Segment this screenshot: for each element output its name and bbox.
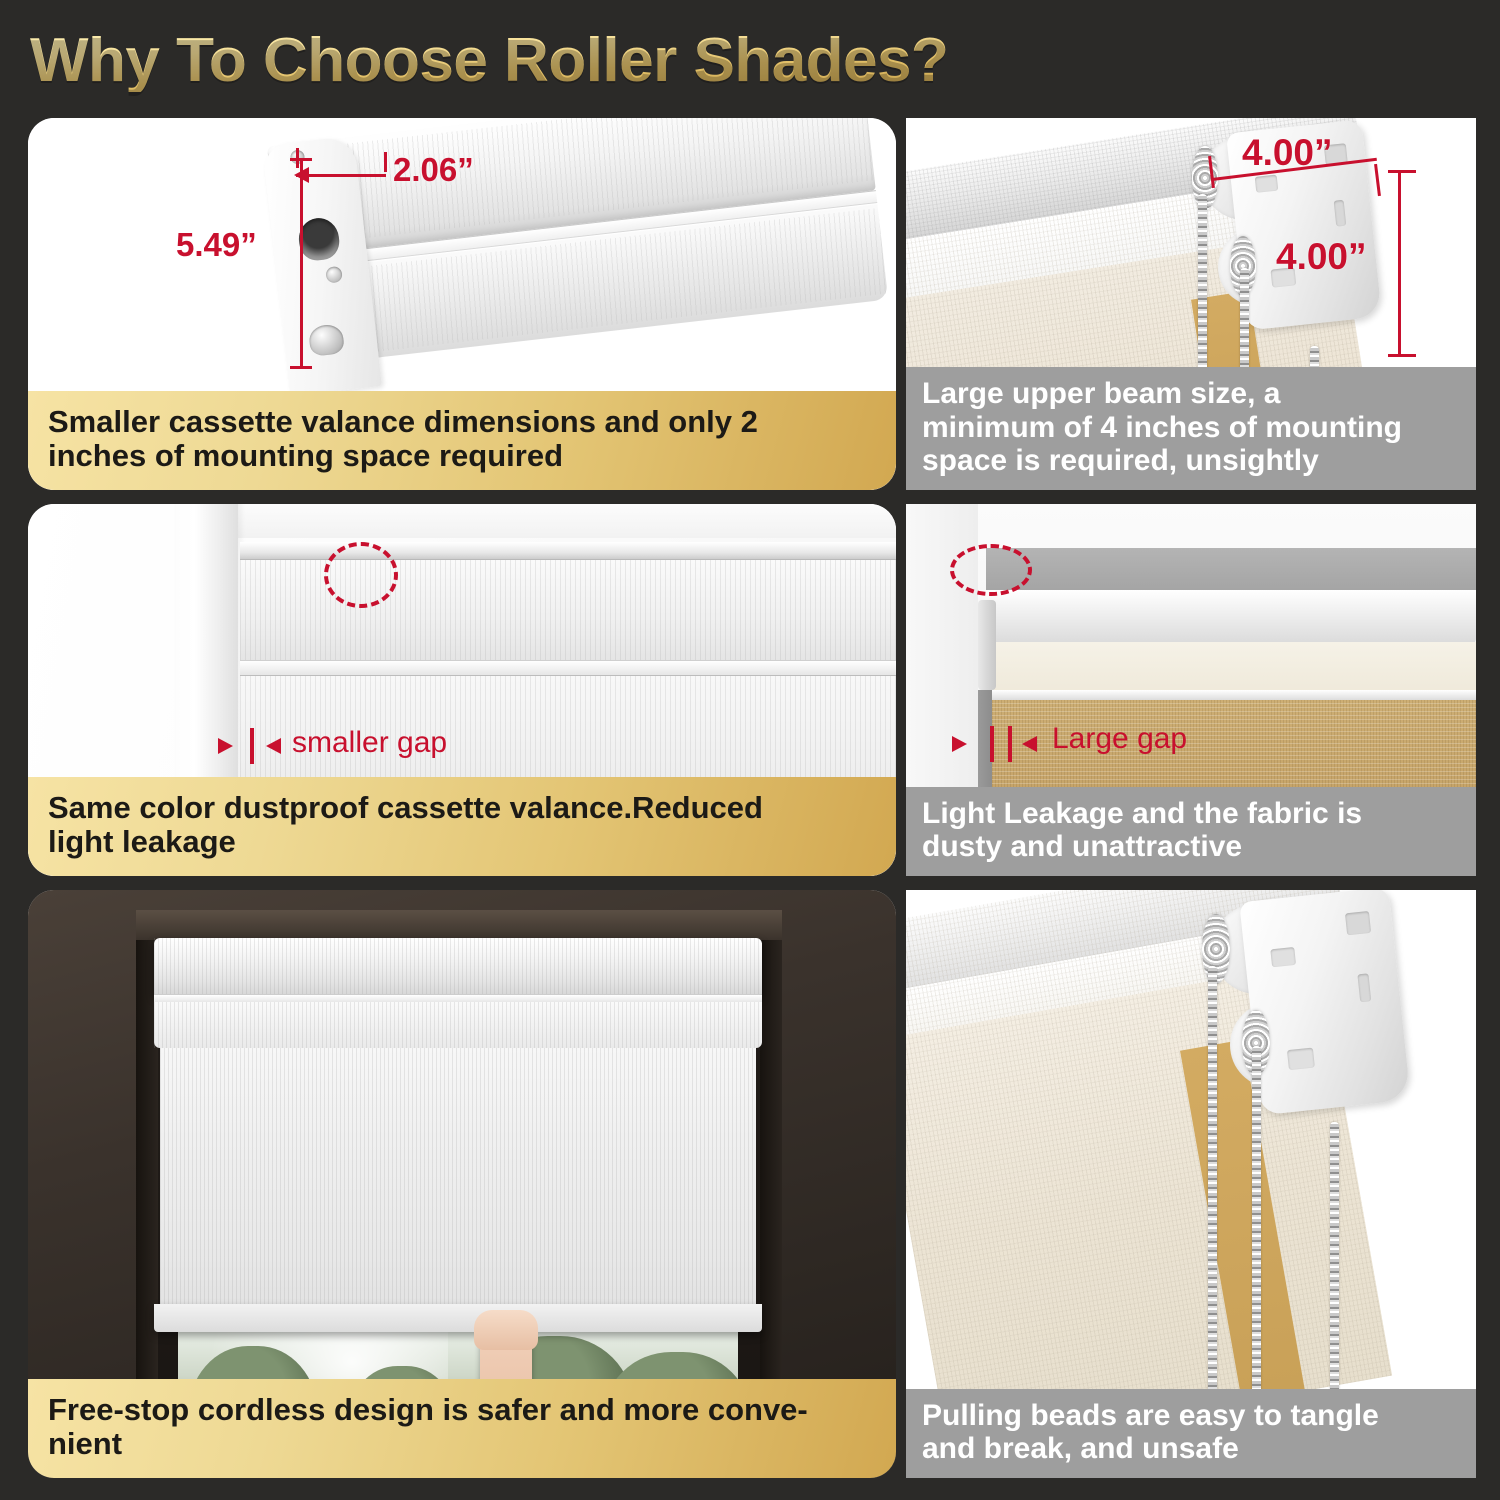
bead-chain-middle [1252,1046,1261,1422]
caption-line: Same color dustproof cassette valance.Re… [48,791,876,826]
light-leakage-photo: Large gap Light Leakage and the fabric i… [906,504,1476,876]
smaller-gap-photo: smaller gap Same color dustproof cassett… [28,504,896,876]
highlight-circle-icon [324,542,398,608]
page-title: Why To Choose Roller Shades? [30,30,948,92]
comparison-grid: 2.06” 5.49” Smaller cassette valance dim… [28,118,1476,1478]
caption-line: light leakage [48,825,876,860]
panel-smaller-gap: smaller gap Same color dustproof cassett… [28,504,896,876]
panel-caption: Light Leakage and the fabric is dusty an… [906,787,1476,876]
caption-line: Free-stop cordless design is safer and m… [48,1393,876,1428]
caption-line: Light Leakage and the fabric is [922,797,1460,831]
panel-caption: Large upper beam size, a minimum of 4 in… [906,367,1476,490]
caption-line: Smaller cassette valance dimensions and … [48,405,876,440]
caption-line: nient [48,1427,876,1462]
bracket-slot-arrow-icon [1255,175,1279,193]
bead-chain-right [1330,1122,1339,1422]
beam-width-dimension-label: 4.00” [1242,132,1333,174]
end-cap-clip-icon [308,323,345,357]
gap-marker-bar-outer [1008,726,1012,762]
pulling-beads-photo: Pulling beads are easy to tangle and bre… [906,890,1476,1478]
panel-pulling-beads: Pulling beads are easy to tangle and bre… [906,890,1476,1478]
bracket-slot-arrow-icon [1270,947,1296,967]
cream-fabric-band [986,642,1476,694]
bracket-slot-mid-icon [1357,973,1371,1002]
title-bar: Why To Choose Roller Shades? [30,22,1130,100]
caption-line: Pulling beads are easy to tangle [922,1399,1460,1433]
panel-caption: Free-stop cordless design is safer and m… [28,1379,896,1478]
gap-marker-bar [250,728,254,764]
panel-caption: Pulling beads are easy to tangle and bre… [906,1389,1476,1478]
gap-label: Large gap [1052,722,1187,756]
mounting-bracket [1239,890,1411,1115]
panel-light-leakage: Large gap Light Leakage and the fabric i… [906,504,1476,876]
hand-knuckles [474,1310,538,1350]
large-beam-photo: 4.00” 4.00” Large upper beam size, a min… [906,118,1476,490]
beam-height-dimension-label: 4.00” [1276,236,1367,278]
valance-lower-section [154,1002,762,1048]
gap-arrow-right-icon [1022,736,1037,752]
panel-large-upper-beam: 4.00” 4.00” Large upper beam size, a min… [906,118,1476,490]
bead-chain-left [1208,966,1217,1422]
highlight-circle-icon [950,544,1032,596]
caption-line: minimum of 4 inches of mounting [922,411,1460,445]
caption-line: Large upper beam size, a [922,377,1460,411]
height-dimension-label: 5.49” [176,226,257,264]
shade-middle-rail [240,660,896,676]
cassette-valance-photo: 2.06” 5.49” Smaller cassette valance dim… [28,118,896,490]
caption-line: and break, and unsafe [922,1432,1460,1466]
window-header-trim [176,504,896,538]
caption-line: space is required, unsightly [922,444,1460,478]
caption-line: inches of mounting space required [48,439,876,474]
gap-arrow-left-icon [218,738,233,754]
panel-caption: Same color dustproof cassette valance.Re… [28,777,896,876]
bracket-slot-top-icon [1345,911,1371,935]
roller-tube [978,590,1476,646]
panel-cordless-design: Free-stop cordless design is safer and m… [28,890,896,1478]
gap-arrow-left-icon [952,736,967,752]
caption-line: dusty and unattractive [922,830,1460,864]
window-header-board [136,910,782,940]
end-cap-slot-icon [297,216,341,262]
bracket-slot-mid-icon [1334,200,1347,227]
panel-cassette-valance: 2.06” 5.49” Smaller cassette valance dim… [28,118,896,490]
end-cap-screw-mid-icon [325,266,343,284]
bead-chain-left [1198,194,1207,390]
shade-fabric-body [160,1048,756,1312]
gap-marker-bar-inner [990,726,994,762]
gap-label: smaller gap [292,726,447,760]
bracket-slot-lower-icon [1287,1048,1315,1071]
cassette-valance [154,938,762,996]
gap-arrow-right-icon [266,738,281,754]
panel-caption: Smaller cassette valance dimensions and … [28,391,896,490]
cordless-design-photo: Free-stop cordless design is safer and m… [28,890,896,1478]
width-dimension-label: 2.06” [393,151,474,189]
bracket-clip [978,600,996,690]
shade-bottom-hem [154,1304,762,1332]
